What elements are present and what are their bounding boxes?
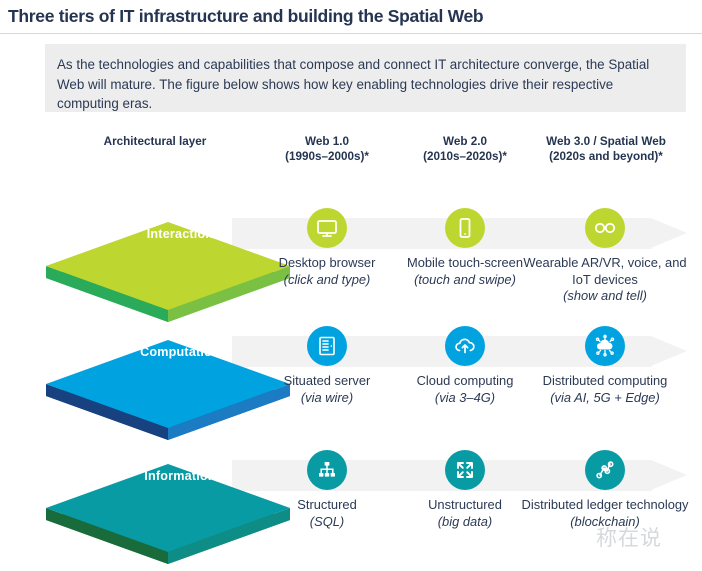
column-header-web3-name: Web 3.0 / Spatial Web <box>546 135 666 148</box>
caption-information-web2-label: Unstructured <box>428 497 502 512</box>
cloud-upload-icon <box>445 326 485 366</box>
column-header-web1-name: Web 1.0 <box>305 135 349 148</box>
caption-information-web3-label: Distributed ledger technology <box>522 497 689 512</box>
cell-computation-web3: Distributed computing (via AI, 5G + Edge… <box>519 326 691 406</box>
caption-information-web3-note: (blockchain) <box>519 514 691 531</box>
caption-computation-web3: Distributed computing (via AI, 5G + Edge… <box>519 373 691 406</box>
expand-arrows-icon <box>445 450 485 490</box>
infographic-page: Three tiers of IT infrastructure and bui… <box>0 0 702 571</box>
tier-row-computation: Computation Situated server (via wire) <box>0 290 702 418</box>
caption-information-web3: Distributed ledger technology (blockchai… <box>519 497 691 530</box>
column-header-web2-period: (2010s–2020s)* <box>388 149 542 164</box>
column-header-web2-name: Web 2.0 <box>443 135 487 148</box>
column-header-architectural-layer: Architectural layer <box>65 134 245 149</box>
caption-computation-web3-label: Distributed computing <box>543 373 668 388</box>
tier-row-information: Information Structured (SQL) <box>0 406 702 544</box>
tier-row-interaction: Interaction Desktop browser (click and t… <box>0 172 702 300</box>
caption-computation-web1-label: Situated server <box>284 373 371 388</box>
blockchain-nodes-icon <box>585 450 625 490</box>
caption-interaction-web3-label: Wearable AR/VR, voice, and IoT devices <box>523 255 686 287</box>
mobile-phone-icon <box>445 208 485 248</box>
column-header-web2: Web 2.0 (2010s–2020s)* <box>388 134 542 164</box>
ar-vr-glasses-icon <box>585 208 625 248</box>
caption-information-web1-label: Structured <box>297 497 356 512</box>
column-header-web1: Web 1.0 (1990s–2000s)* <box>249 134 405 164</box>
intro-text: As the technologies and capabilities tha… <box>57 55 677 114</box>
caption-computation-web2-label: Cloud computing <box>417 373 514 388</box>
monitor-icon <box>307 208 347 248</box>
caption-interaction-web2-label: Mobile touch-screen <box>407 255 523 270</box>
page-title: Three tiers of IT infrastructure and bui… <box>8 6 688 27</box>
caption-computation-web3-note: (via AI, 5G + Edge) <box>519 390 691 407</box>
column-header-web1-period: (1990s–2000s)* <box>249 149 405 164</box>
cell-information-web3: Distributed ledger technology (blockchai… <box>519 450 691 530</box>
column-header-architectural-layer-label: Architectural layer <box>104 135 207 148</box>
server-rack-icon <box>307 326 347 366</box>
column-header-web3-period: (2020s and beyond)* <box>522 149 690 164</box>
distributed-cloud-icon <box>585 326 625 366</box>
caption-interaction-web1-label: Desktop browser <box>279 255 376 270</box>
title-divider <box>0 33 702 34</box>
column-header-web3: Web 3.0 / Spatial Web (2020s and beyond)… <box>522 134 690 164</box>
hierarchy-icon <box>307 450 347 490</box>
